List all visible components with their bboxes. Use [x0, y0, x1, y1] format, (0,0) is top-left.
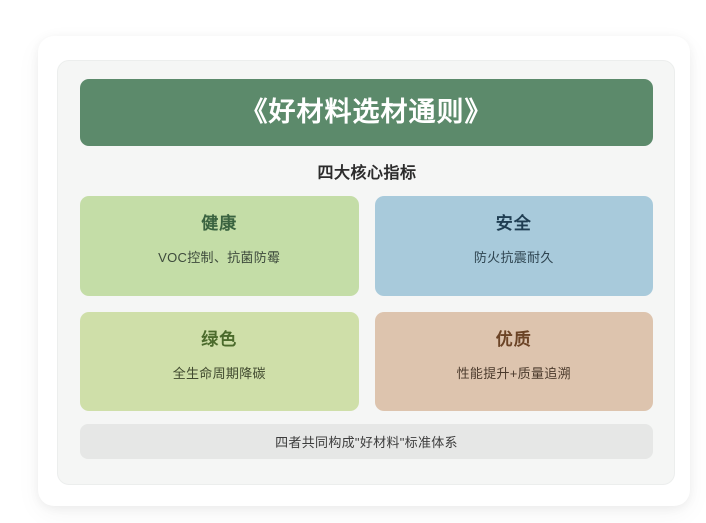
- indicator-description-safety: 防火抗震耐久: [474, 250, 554, 267]
- indicator-description-quality: 性能提升+质量追溯: [457, 366, 571, 383]
- indicator-title-green: 绿色: [201, 331, 237, 348]
- outer-card-panel: 《好材料选材通则》 四大核心指标 健康 VOC控制、抗菌防霉 安全 防火抗震耐久…: [38, 36, 690, 506]
- indicator-card-quality[interactable]: 优质 性能提升+质量追溯: [375, 312, 654, 412]
- page-title: 《好材料选材通则》: [241, 99, 493, 126]
- indicator-title-quality: 优质: [496, 331, 532, 348]
- indicator-card-safety[interactable]: 安全 防火抗震耐久: [375, 196, 654, 296]
- indicator-title-safety: 安全: [496, 215, 532, 232]
- subtitle-heading: 四大核心指标: [58, 159, 676, 183]
- indicator-description-health: VOC控制、抗菌防霉: [158, 250, 280, 267]
- indicator-card-health[interactable]: 健康 VOC控制、抗菌防霉: [80, 196, 359, 296]
- indicator-description-green: 全生命周期降碳: [173, 366, 266, 383]
- indicator-card-green[interactable]: 绿色 全生命周期降碳: [80, 312, 359, 412]
- indicator-title-health: 健康: [201, 215, 237, 232]
- footer-summary-text: 四者共同构成"好材料"标准体系: [275, 432, 458, 451]
- footer-summary-strip: 四者共同构成"好材料"标准体系: [80, 424, 653, 459]
- indicator-card-grid: 健康 VOC控制、抗菌防霉 安全 防火抗震耐久 绿色 全生命周期降碳 优质 性能…: [80, 196, 653, 411]
- infographic-panel: 《好材料选材通则》 四大核心指标 健康 VOC控制、抗菌防霉 安全 防火抗震耐久…: [57, 60, 675, 485]
- title-banner: 《好材料选材通则》: [80, 79, 653, 146]
